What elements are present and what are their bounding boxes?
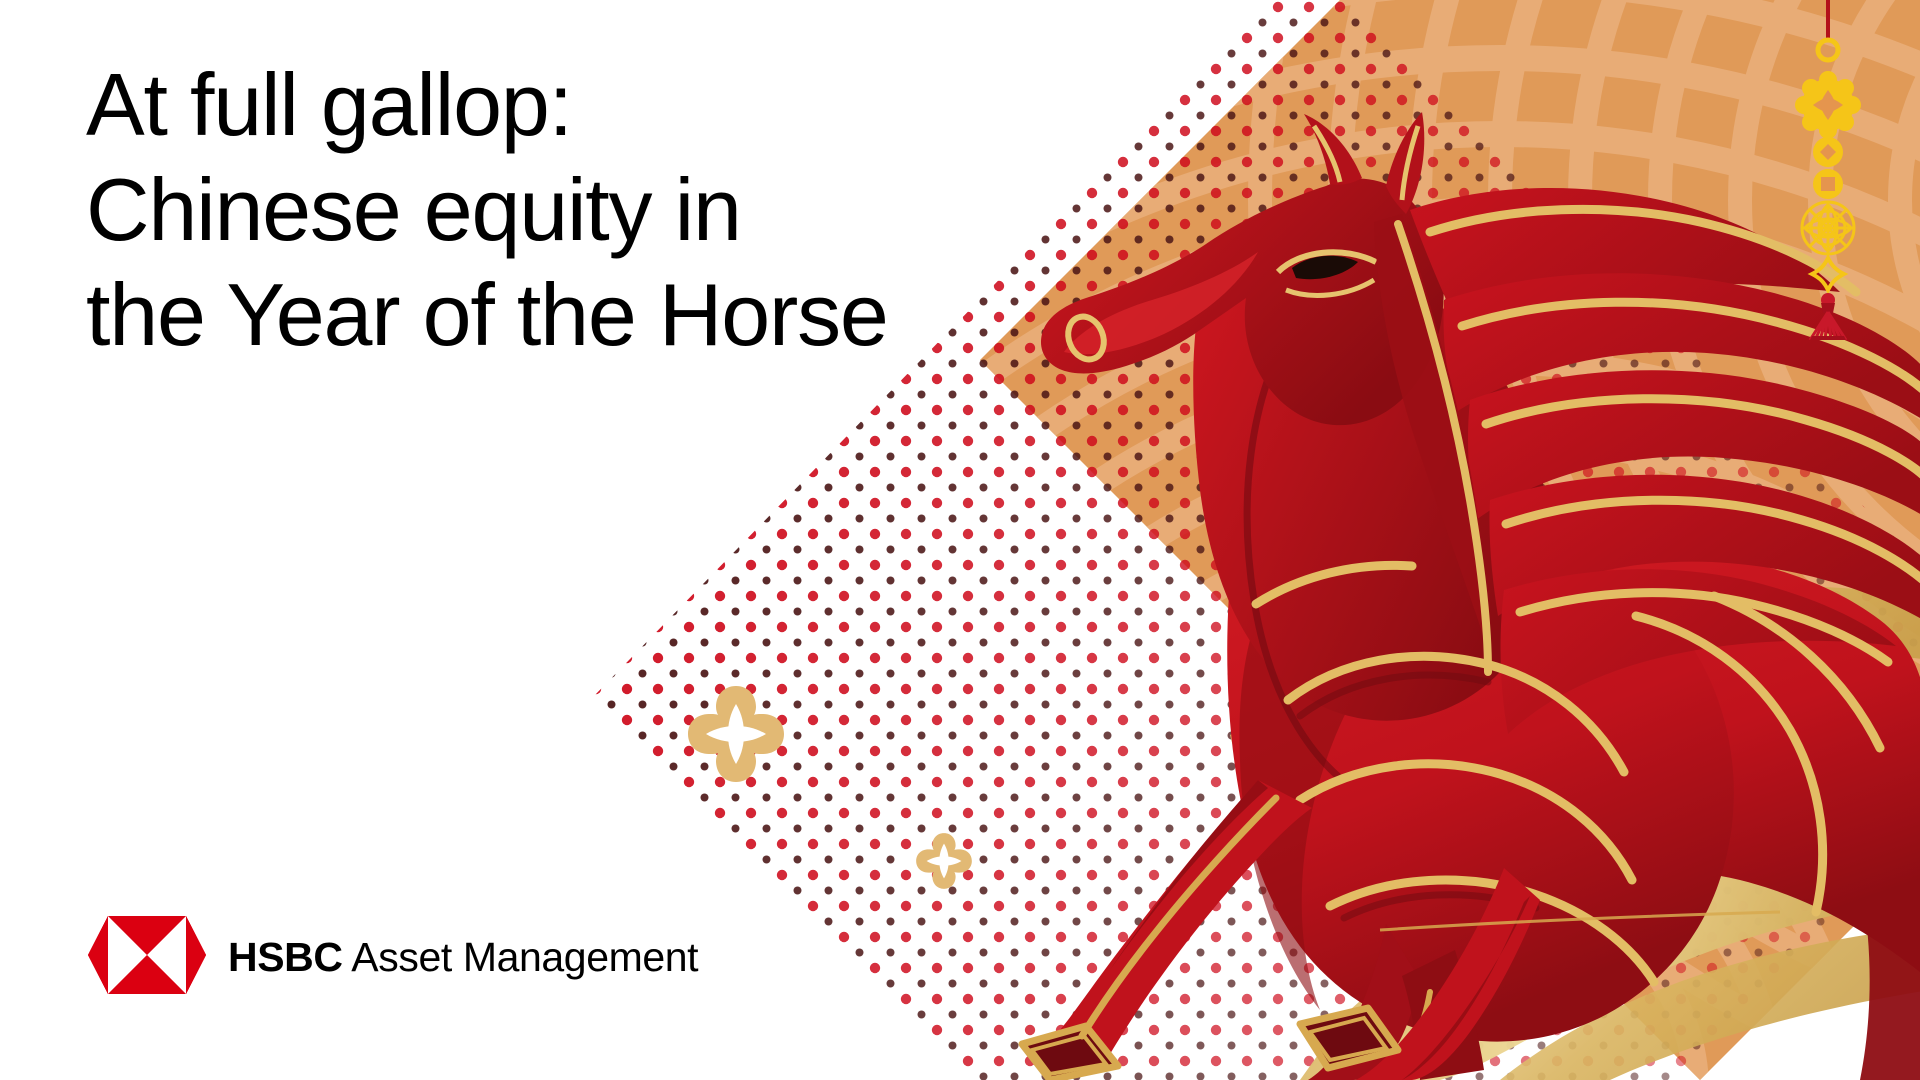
page-title: At full gallop: Chinese equity in the Ye… [86, 52, 888, 367]
quatrefoil-large-icon [686, 684, 786, 789]
hsbc-logo-lockup[interactable]: HSBC Asset Management [88, 916, 698, 999]
hanging-ornament [1788, 0, 1868, 345]
hsbc-brand-text: HSBC [228, 934, 343, 980]
quatrefoil-small-icon [915, 832, 973, 895]
hsbc-hexagon-icon [88, 916, 206, 999]
hsbc-wordmark: HSBC Asset Management [228, 937, 698, 978]
hsbc-descriptor-text: Asset Management [343, 934, 699, 980]
slide-canvas: At full gallop: Chinese equity in the Ye… [0, 0, 1920, 1080]
